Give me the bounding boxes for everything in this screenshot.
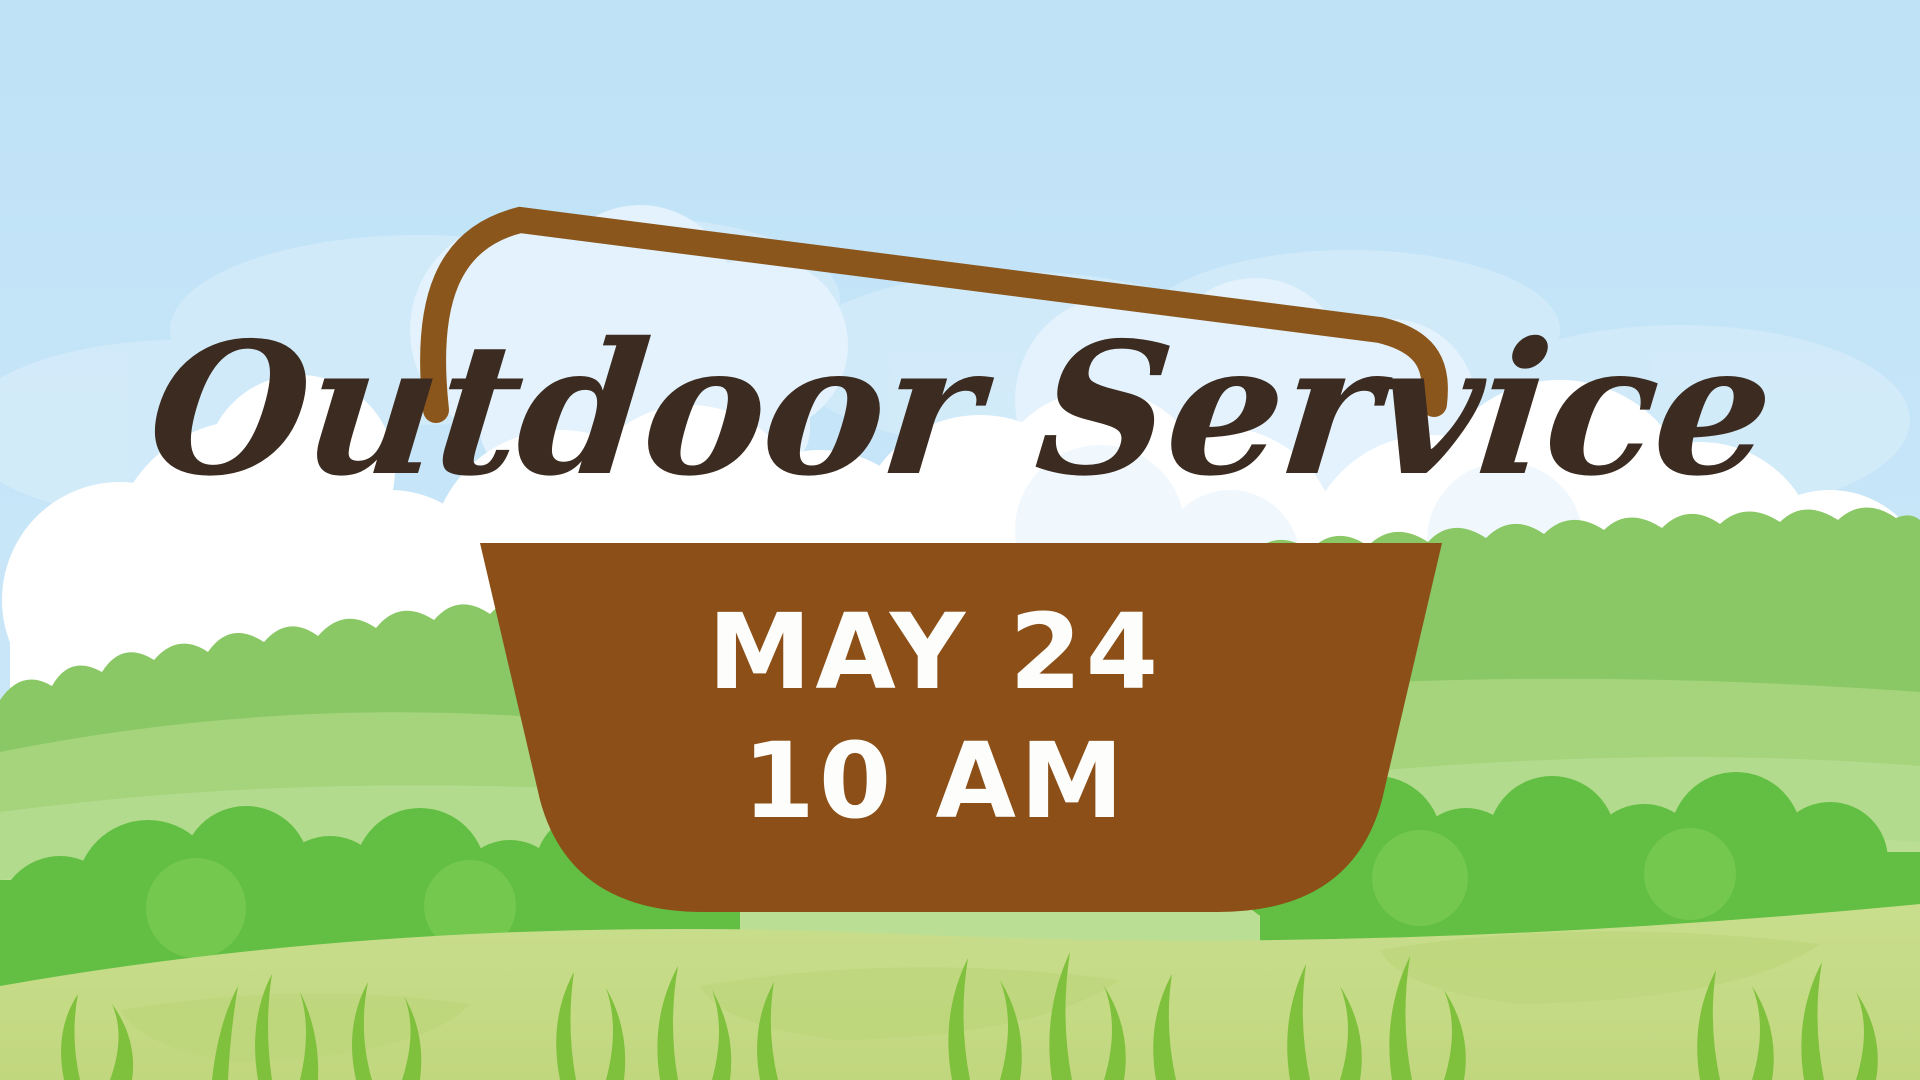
basket-shape	[480, 543, 1442, 912]
poster-canvas: Outdoor Service MAY 24 10 AM	[0, 0, 1920, 1080]
basket-body	[0, 0, 1920, 1080]
